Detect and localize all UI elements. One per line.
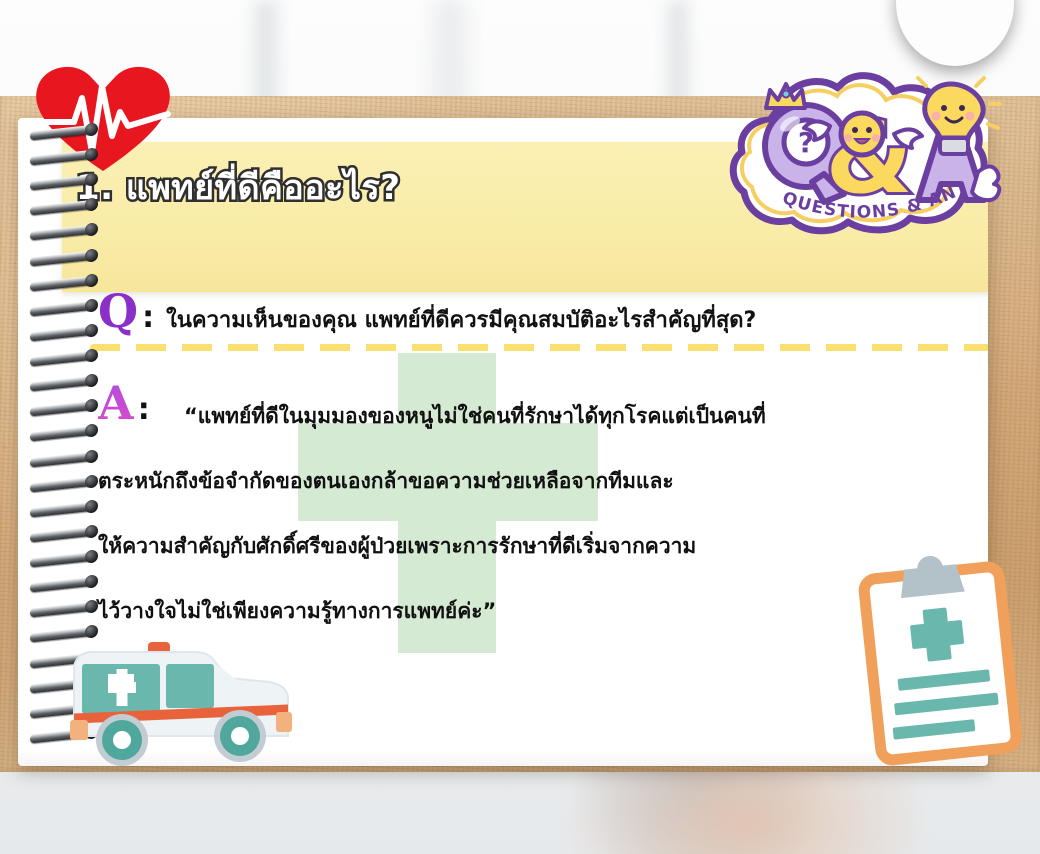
spiral-ring [30,376,96,392]
spiral-ring [30,501,96,517]
dashed-divider [90,344,988,351]
cork-speck [412,101,414,103]
cork-speck [737,770,740,772]
spiral-ring [30,451,96,467]
spiral-ring [30,250,96,266]
thumbs-up-icon [972,166,999,200]
cork-speck [1021,263,1024,265]
spiral-ring [30,602,96,618]
cork-speck [9,187,11,188]
cork-speck [593,106,595,107]
cork-speck [13,651,16,653]
spiral-ring [30,325,96,341]
cork-speck [487,114,490,116]
cork-speck [1035,292,1037,293]
cork-speck [615,113,617,115]
answer-line: “แพทย์ที่ดีในมุมมองของหนูไม่ใช่คนที่รักษ… [98,384,988,449]
cork-speck [1009,276,1012,278]
cork-speck [709,96,711,97]
cork-speck [13,494,16,496]
cork-speck [272,107,274,109]
cork-speck [414,98,416,99]
spiral-ring [30,552,96,568]
spiral-ring [30,225,96,241]
cork-speck [213,112,214,113]
spiral-ring [30,300,96,316]
spiral-ring [30,275,96,291]
answer-line: ตระหนักถึงข้อจำกัดของตนเองกล้าขอความช่วย… [98,449,988,514]
question-text: ในความเห็นของคุณ แพทย์ที่ดีควรมีคุณสมบัต… [166,307,756,335]
cork-speck [1034,595,1037,597]
qa-logo-badge: ? & [712,42,1022,242]
cork-speck [3,247,4,248]
cork-speck [15,128,17,130]
question-colon: : [142,300,154,335]
cork-speck [1037,696,1039,698]
medical-clipboard-icon [854,556,1034,768]
cork-speck [621,105,622,106]
spiral-ring [30,150,96,166]
question-letter: Q [98,288,138,334]
spiral-ring [30,476,96,492]
cork-speck [698,110,699,111]
cork-speck [3,446,6,448]
ambulance-icon [62,636,312,776]
spiral-ring [30,200,96,216]
cork-speck [14,262,16,263]
cork-speck [998,495,1002,497]
spiral-ring [30,577,96,593]
cork-speck [434,109,437,111]
spiral-ring [30,526,96,542]
cork-speck [353,99,356,101]
cork-speck [1017,500,1019,502]
cork-speck [272,115,273,116]
cork-speck [12,574,13,575]
cork-speck [512,104,513,105]
cork-speck [886,770,889,772]
spiral-ring [30,175,96,191]
spiral-ring [30,401,96,417]
cork-speck [1037,646,1039,648]
question-row: Q : ในความเห็นของคุณ แพทย์ที่ดีควรมีคุณส… [98,288,978,335]
cork-speck [990,444,993,446]
cork-speck [8,204,11,206]
spiral-ring [30,426,96,442]
spiral-ring [30,351,96,367]
cork-speck [2,587,4,589]
